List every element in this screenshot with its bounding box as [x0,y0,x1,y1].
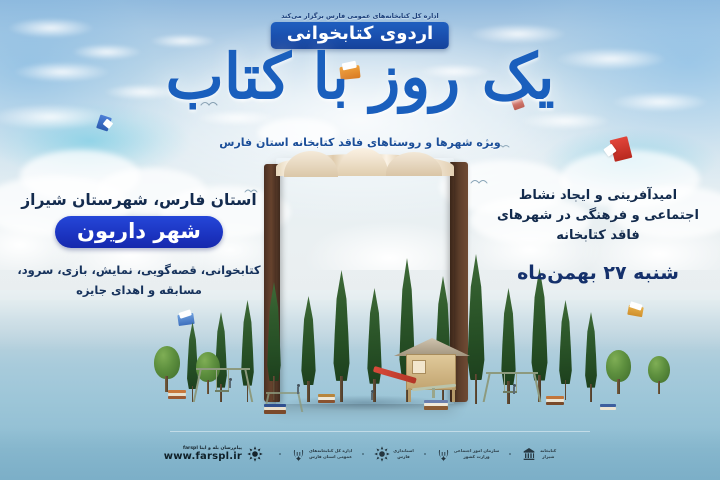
poster-subtitle: ویژه شهرها و روستاهای فاقد کتابخانه استا… [0,136,720,149]
cypress-tree [558,300,573,400]
website-url[interactable]: www.farspl.ir [164,451,242,462]
playhouse-window [412,360,426,374]
cypress-tree [266,282,282,400]
swing-set [196,368,250,402]
seesaw-pivot [432,388,435,398]
logo-caption: اداره کل کتابخانه‌های عمومی استان فارس [309,448,352,461]
iran-emblem-icon [436,446,451,463]
location-block: استان فارس، شهرستان شیراز شهر داریون کتا… [16,190,262,301]
main-title: یک روز با کتاب [0,46,720,108]
sun-emblem-icon [247,446,263,462]
logo-caption: سازمان امور اجتماعی وزارت کشور [454,448,499,461]
logo-caption: استانداری فارس [393,448,414,461]
footer-logos: کتابخانه شیراز سازمان امور اجتماعی وزارت… [0,432,720,476]
book-stack [424,400,448,410]
playhouse-leg [452,388,455,402]
cypress-tree [584,312,598,402]
activities-list: کتابخوانی، قصه‌گویی، نمایش، بازی، سرود، … [16,260,262,300]
poster-canvas: اداره کل کتابخانه‌های عمومی فارس برگزار … [0,0,720,480]
slogan-block: امیدآفرینی و ایجاد نشاط اجتماعی و فرهنگی… [490,186,706,285]
footer-separator-dot [509,453,511,455]
footer-separator-dot [362,453,364,455]
sun-emblem-icon [374,446,390,462]
footer-separator-dot [279,453,281,455]
cypress-tree [300,296,317,402]
cypress-tree [466,254,486,404]
website-block[interactable]: پیام‌رسان بله و ایتا farspl www.farspl.i… [164,446,263,462]
iran-emblem-icon [291,446,306,463]
figure-person [228,378,232,390]
logo-library-foundation: کتابخانه شیراز [521,446,556,462]
activities-line-2: مسابقه و اهدای جایزه [16,280,262,300]
cypress-tree [366,288,383,402]
logo-public-libraries-fars: اداره کل کتابخانه‌های عمومی استان فارس [291,446,352,463]
slogan-line-3: فاقد کتابخانه [490,226,706,246]
playhouse-leg [408,388,411,402]
event-date: شنبه ۲۷ بهمن‌ماه [490,262,706,285]
book-stack [168,390,186,399]
slogan-line-1: امیدآفرینی و ایجاد نشاط [490,186,706,206]
logo-social-affairs: سازمان امور اجتماعی وزارت کشور [436,446,499,463]
footer-separator-dot [424,453,426,455]
logo-caption-line: عمومی استان فارس [309,454,352,460]
logo-caption-line: شیراز [540,454,556,460]
figure-person [512,384,516,396]
activities-line-1: کتابخوانی، قصه‌گویی، نمایش، بازی، سرود، [16,260,262,280]
figure-person [296,384,300,396]
figure-person [370,390,374,402]
website-text: پیام‌رسان بله و ایتا farspl www.farspl.i… [164,446,242,462]
cloud-wisp [8,18,94,38]
logo-caption-line: وزارت کشور [454,454,499,460]
cypress-tree [332,270,351,402]
slogan-line-2: اجتماعی و فرهنگی در شهرهای [490,206,706,226]
book-stack [600,404,616,410]
logo-caption: کتابخانه شیراز [540,448,556,461]
round-tree [606,350,631,394]
round-tree [154,346,180,392]
logo-governorate-fars: استانداری فارس [374,446,414,462]
organizer-line: اداره کل کتابخانه‌های عمومی فارس برگزار … [0,12,720,20]
city-badge: شهر داریون [55,216,223,248]
round-tree [648,356,670,394]
cloud-wisp [520,112,610,130]
book-stack [546,396,564,405]
library-foundation-icon [521,446,537,462]
book-stack [264,404,286,414]
logo-caption-line: فارس [393,454,414,460]
book-stack [318,394,335,403]
province-city-line: استان فارس، شهرستان شیراز [16,190,262,210]
